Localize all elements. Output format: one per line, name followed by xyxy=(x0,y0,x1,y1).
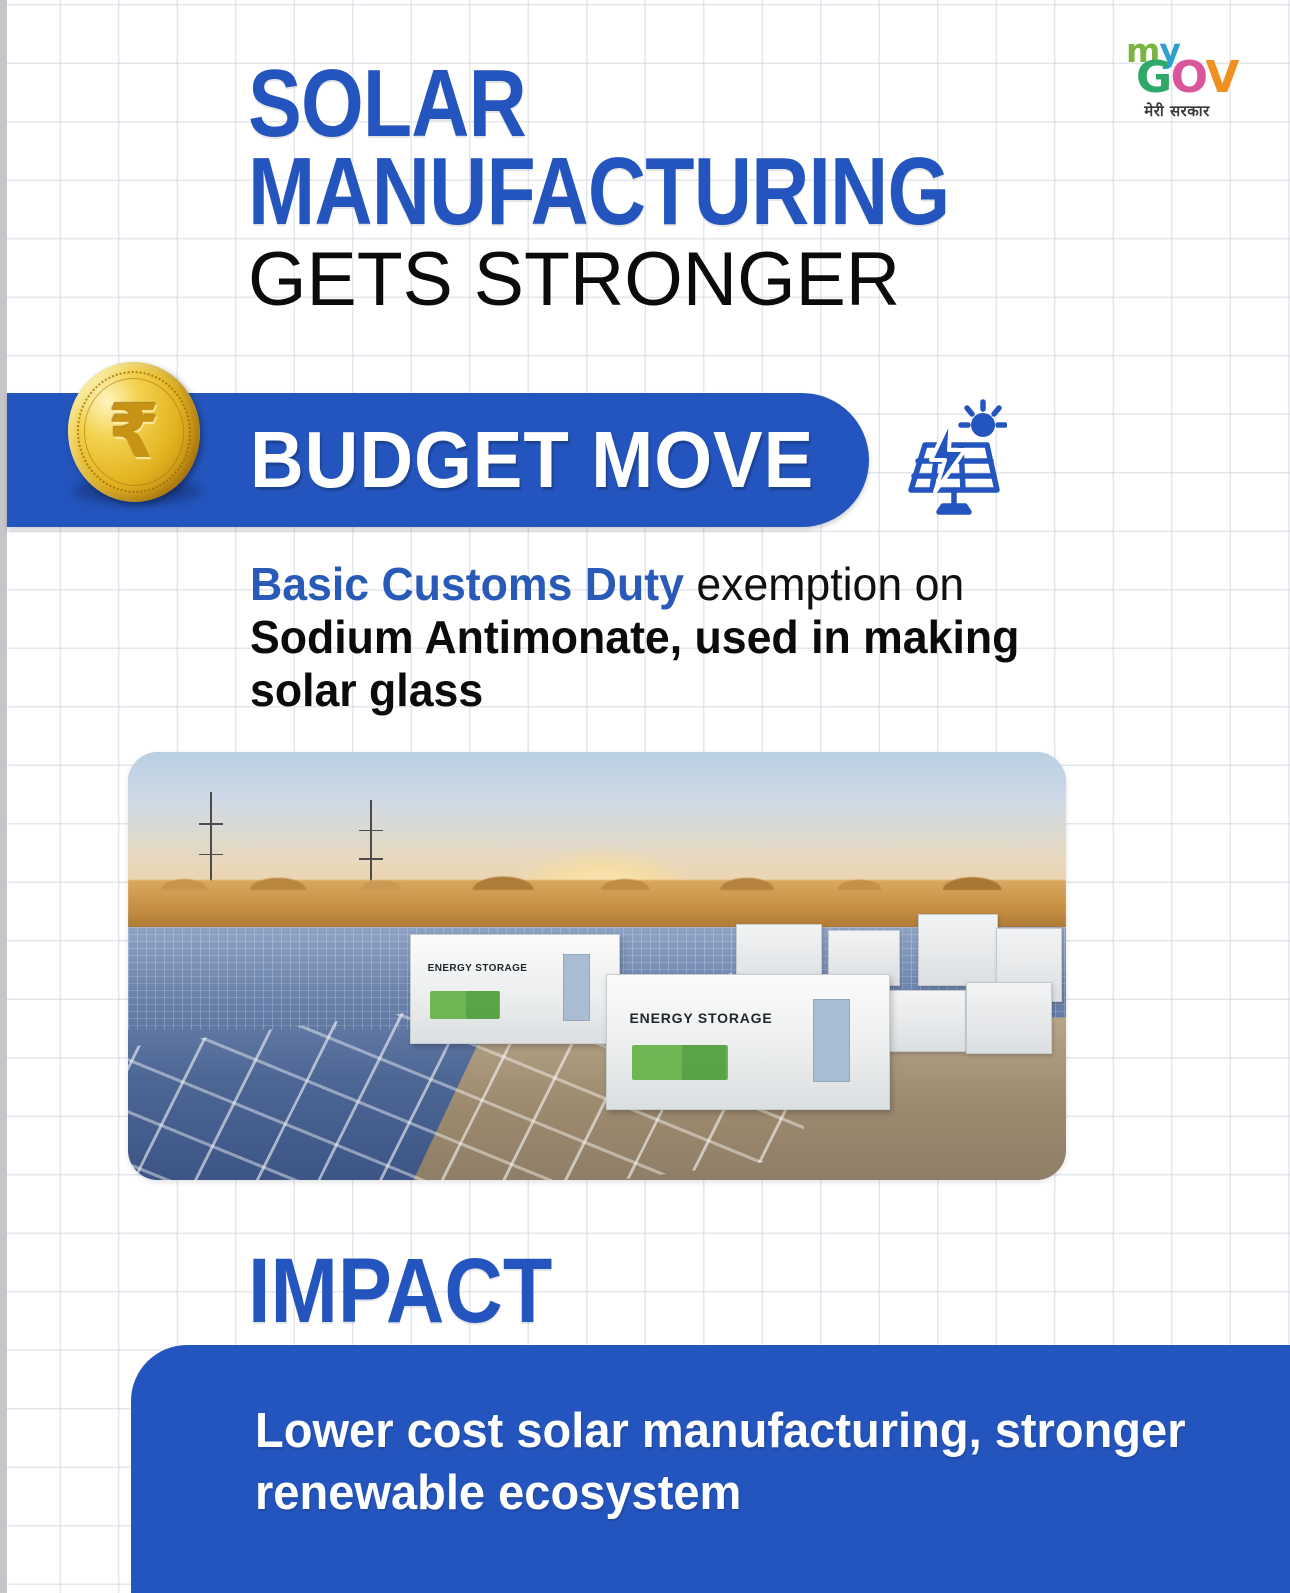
impact-heading: IMPACT xyxy=(248,1245,552,1337)
subcopy-highlight: Basic Customs Duty xyxy=(250,558,684,610)
subcopy-emphasis: Sodium Antimonate, used in making solar … xyxy=(250,611,1019,716)
container-green-decal xyxy=(632,1045,728,1080)
container-label: ENERGY STORAGE xyxy=(630,1010,773,1026)
headline-line-2: MANUFACTURING xyxy=(248,148,1054,236)
headline-line-3: GETS STRONGER xyxy=(248,240,1198,320)
photo-energy-storage-container-1: ENERGY STORAGE xyxy=(410,934,620,1044)
container-green-decal xyxy=(430,991,501,1019)
container-door xyxy=(813,999,850,1082)
photo-equipment-box xyxy=(918,914,998,986)
container-door xyxy=(563,954,590,1021)
impact-text: Lower cost solar manufacturing, stronger… xyxy=(255,1400,1215,1524)
rupee-symbol: ₹ xyxy=(68,362,200,502)
page-title: SOLAR MANUFACTURING GETS STRONGER xyxy=(248,60,1208,320)
logo-letter-v: V xyxy=(1205,52,1238,103)
subcopy-text: Basic Customs Duty exemption on Sodium A… xyxy=(250,558,1123,717)
solar-panel-icon xyxy=(895,398,1007,520)
photo-energy-storage-container-2: ENERGY STORAGE xyxy=(606,974,890,1110)
subcopy-middle: exemption on xyxy=(684,558,964,610)
solar-farm-photo: ENERGY STORAGE ENERGY STORAGE xyxy=(128,752,1066,1180)
rupee-coin-icon: ₹ xyxy=(68,362,208,508)
photo-equipment-box xyxy=(966,982,1052,1054)
container-label: ENERGY STORAGE xyxy=(428,963,528,974)
headline-line-1: SOLAR xyxy=(248,60,1054,148)
left-gutter xyxy=(0,0,7,1593)
budget-move-label: BUDGET MOVE xyxy=(250,408,814,512)
poster-canvas: my GOV मेरी सरकार SOLAR MANUFACTURING GE… xyxy=(0,0,1290,1593)
impact-panel: Lower cost solar manufacturing, stronger… xyxy=(131,1345,1290,1593)
